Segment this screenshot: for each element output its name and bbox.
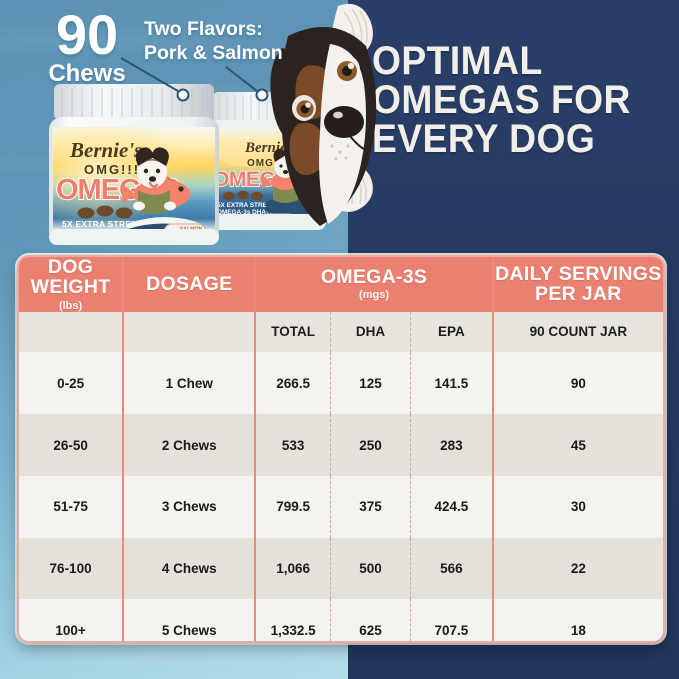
subheader-total: TOTAL (255, 312, 330, 353)
header-dosage-label: DOSAGE (124, 274, 254, 294)
header-dog-weight: DOG WEIGHT (lbs) (19, 257, 123, 312)
chew-count-number: 90 (34, 8, 140, 61)
subheader-blank-2 (123, 312, 255, 353)
cell-weight: 0-25 (19, 352, 123, 414)
cell-epa: 566 (411, 538, 493, 600)
cell-dha: 375 (330, 476, 410, 538)
header-dog-weight-unit: (lbs) (19, 300, 122, 312)
header-omega3s: OMEGA-3S (mgs) (255, 257, 492, 312)
cell-dha: 500 (330, 538, 410, 600)
table-header-row: DOG WEIGHT (lbs) DOSAGE OMEGA-3S (mgs) D… (19, 257, 663, 312)
cell-servings: 30 (493, 476, 663, 538)
header-daily-servings-label: DAILY SERVINGS PER JAR (494, 264, 663, 305)
headline-line-2: OMEGAS FOR (372, 81, 651, 120)
cell-epa: 283 (411, 414, 493, 476)
table-row: 26-50 2 Chews 533 250 283 45 (19, 414, 663, 476)
table-subheader-row: TOTAL DHA EPA 90 COUNT JAR (19, 312, 663, 353)
headline-line-1: OPTIMAL (372, 42, 651, 81)
jar-brand-text: Bernie's (69, 138, 142, 162)
cell-total: 1,332.5 (255, 599, 330, 643)
header-dosage: DOSAGE (123, 257, 255, 312)
cell-dha: 625 (330, 599, 410, 643)
dosage-table: DOG WEIGHT (lbs) DOSAGE OMEGA-3S (mgs) D… (19, 257, 663, 643)
cell-dosage: 2 Chews (123, 414, 255, 476)
cell-total: 533 (255, 414, 330, 476)
cell-servings: 45 (493, 414, 663, 476)
cell-dha: 250 (330, 414, 410, 476)
subheader-count-jar: 90 COUNT JAR (493, 312, 663, 353)
product-jar-salmon: Bernie's OMG!!! OMEGAS 5X EXTRA STRENGTH… (44, 82, 224, 247)
header-dog-weight-label: DOG WEIGHT (19, 257, 122, 298)
cell-total: 266.5 (255, 352, 330, 414)
cell-weight: 26-50 (19, 414, 123, 476)
cell-total: 799.5 (255, 476, 330, 538)
subheader-epa: EPA (411, 312, 493, 353)
cell-servings: 90 (493, 352, 663, 414)
table-row: 51-75 3 Chews 799.5 375 424.5 30 (19, 476, 663, 538)
subheader-blank-1 (19, 312, 123, 353)
cell-dha: 125 (330, 352, 410, 414)
header-daily-servings: DAILY SERVINGS PER JAR (493, 257, 663, 312)
leader-line-flavors (223, 64, 279, 108)
cell-dosage: 5 Chews (123, 599, 255, 643)
cell-epa: 141.5 (411, 352, 493, 414)
headline-line-3: EVERY DOG (372, 120, 651, 159)
cell-total: 1,066 (255, 538, 330, 600)
page-headline: OPTIMAL OMEGAS FOR EVERY DOG (372, 42, 672, 160)
cell-epa: 424.5 (411, 476, 493, 538)
header-omega3s-label: OMEGA-3S (256, 267, 491, 287)
flavors-line-1: Two Flavors: (144, 18, 263, 40)
cell-weight: 100+ (19, 599, 123, 643)
cell-dosage: 1 Chew (123, 352, 255, 414)
cell-dosage: 3 Chews (123, 476, 255, 538)
cell-servings: 22 (493, 538, 663, 600)
cell-epa: 707.5 (411, 599, 493, 643)
flavors-line-2: Pork & Salmon (144, 42, 283, 64)
dosage-table-container: DOG WEIGHT (lbs) DOSAGE OMEGA-3S (mgs) D… (17, 255, 665, 643)
cell-weight: 76-100 (19, 538, 123, 600)
cell-servings: 18 (493, 599, 663, 643)
cell-weight: 51-75 (19, 476, 123, 538)
cell-dosage: 4 Chews (123, 538, 255, 600)
table-row: 76-100 4 Chews 1,066 500 566 22 (19, 538, 663, 600)
subheader-dha: DHA (330, 312, 410, 353)
table-row: 0-25 1 Chew 266.5 125 141.5 90 (19, 352, 663, 414)
callout-flavors: Two Flavors: Pork & Salmon (144, 18, 283, 66)
header-omega3s-unit: (mgs) (256, 289, 491, 301)
table-row: 100+ 5 Chews 1,332.5 625 707.5 18 (19, 599, 663, 643)
